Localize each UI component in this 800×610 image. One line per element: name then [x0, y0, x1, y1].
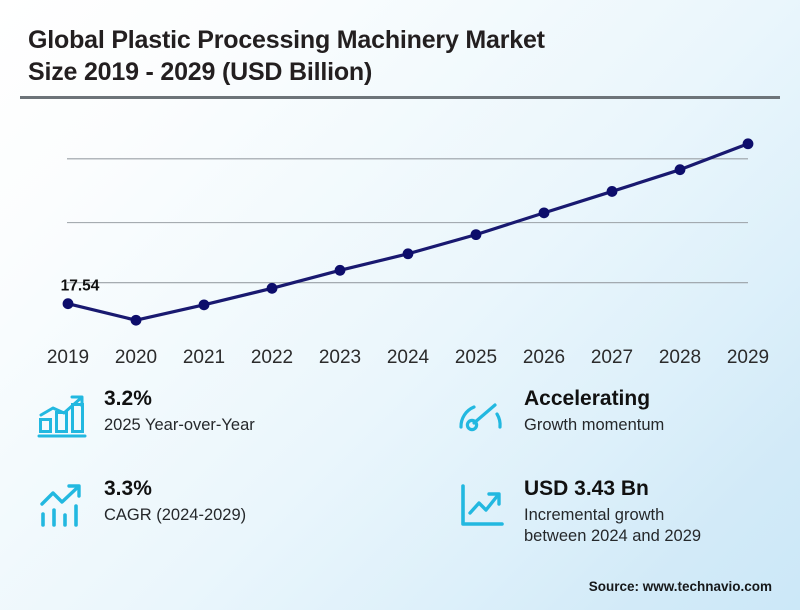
data-point-label: 17.54	[61, 278, 100, 295]
x-axis-tick-label: 2028	[659, 347, 701, 368]
stat-value: 3.3%	[104, 477, 246, 502]
chart-series	[68, 144, 748, 320]
stat-card-momentum-text: Accelerating Growth momentum	[524, 386, 664, 436]
stat-label-line: Growth momentum	[524, 415, 664, 436]
x-axis-tick-label: 2027	[591, 347, 633, 368]
chart-svg: 2019: 17.542020: 17.12021: 17.512022: 17…	[0, 105, 800, 370]
series-line-path	[68, 144, 748, 320]
stat-value: Accelerating	[524, 387, 664, 412]
x-axis-tick-label: 2026	[523, 347, 565, 368]
stat-value: 3.2%	[104, 387, 255, 412]
stat-label-line: between 2024 and 2029	[524, 526, 701, 547]
data-point-marker: 2024: 18.87	[403, 248, 414, 259]
source-attribution: Source: www.technavio.com	[589, 579, 772, 594]
x-axis-tick-label: 2019	[47, 347, 89, 368]
stat-label: Growth momentum	[524, 415, 664, 436]
chart-x-axis-labels: 2019202020212022202320242025202620272028…	[47, 347, 769, 368]
stat-label: 2025 Year-over-Year	[104, 415, 255, 436]
stat-label-line: 2025 Year-over-Year	[104, 415, 255, 436]
stat-value: USD 3.43 Bn	[524, 477, 701, 502]
x-axis-tick-label: 2022	[251, 347, 293, 368]
data-point-marker: 2027: 20.53	[607, 186, 618, 197]
speedometer-icon	[456, 390, 508, 442]
x-axis-tick-label: 2029	[727, 347, 769, 368]
stat-label: Incremental growth between 2024 and 2029	[524, 505, 701, 548]
x-axis-tick-label: 2024	[387, 347, 430, 368]
page-title-line2: Size 2019 - 2029 (USD Billion)	[28, 58, 372, 86]
stat-label-line: Incremental growth	[524, 505, 701, 526]
data-point-marker: 2021: 17.51	[199, 299, 210, 310]
x-axis-tick-label: 2023	[319, 347, 361, 368]
stat-card-momentum: Accelerating Growth momentum	[456, 386, 776, 470]
x-axis-tick-label: 2020	[115, 347, 157, 368]
infographic-page: Global Plastic Processing Machinery Mark…	[0, 0, 800, 610]
data-point-marker: 2026: 19.96	[539, 207, 550, 218]
bar-chart-growth-icon	[36, 390, 88, 442]
header: Global Plastic Processing Machinery Mark…	[28, 24, 772, 88]
chart-data-labels: 17.54	[61, 278, 100, 295]
stat-label: CAGR (2024-2029)	[104, 505, 246, 526]
stat-card-cagr-text: 3.3% CAGR (2024-2029)	[104, 476, 246, 526]
stat-card-yoy: 3.2% 2025 Year-over-Year	[36, 386, 456, 470]
stat-card-cagr: 3.3% CAGR (2024-2029)	[36, 476, 456, 548]
x-axis-tick-label: 2025	[455, 347, 497, 368]
data-point-marker: 2025: 19.38	[471, 229, 482, 240]
trending-up-bars-icon	[36, 480, 88, 532]
line-chart: 2019: 17.542020: 17.12021: 17.512022: 17…	[0, 105, 800, 370]
page-title-line1: Global Plastic Processing Machinery Mark…	[28, 26, 545, 54]
page-title: Global Plastic Processing Machinery Mark…	[28, 24, 772, 88]
stat-card-incremental-growth-text: USD 3.43 Bn Incremental growth between 2…	[524, 476, 701, 548]
axis-trend-arrow-icon	[456, 480, 508, 532]
stats-grid: 3.2% 2025 Year-over-Year Accelerating G	[36, 386, 776, 548]
data-point-marker: 2029: 21.8	[743, 138, 754, 149]
stat-card-incremental-growth: USD 3.43 Bn Incremental growth between 2…	[456, 476, 776, 548]
chart-gridlines	[67, 159, 748, 283]
stat-card-yoy-text: 3.2% 2025 Year-over-Year	[104, 386, 255, 436]
stat-label-line: CAGR (2024-2029)	[104, 505, 246, 526]
data-point-marker: 2022: 17.95	[267, 283, 278, 294]
data-point-marker: 2023: 18.43	[335, 265, 346, 276]
chart-markers: 2019: 17.542020: 17.12021: 17.512022: 17…	[63, 138, 754, 325]
data-point-marker: 2020: 17.1	[131, 315, 142, 326]
data-point-marker: 2019: 17.54	[63, 298, 74, 309]
x-axis-tick-label: 2021	[183, 347, 225, 368]
data-point-marker: 2028: 21.11	[675, 164, 686, 175]
header-divider	[20, 96, 780, 99]
